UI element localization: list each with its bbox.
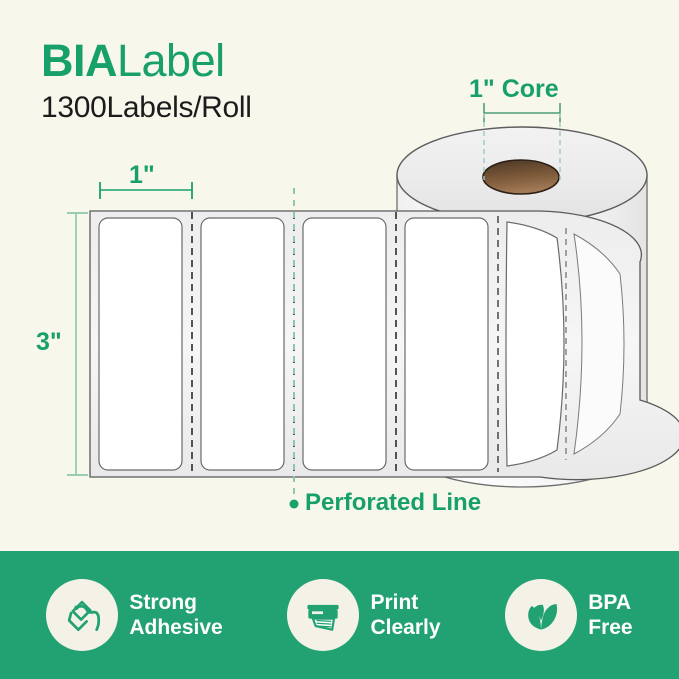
- dimension-width-label: 1": [129, 161, 155, 190]
- feature-print-clearly: Print Clearly: [287, 579, 440, 651]
- leaves-icon: [505, 579, 577, 651]
- label-strip: [90, 211, 679, 480]
- label-item: [405, 218, 488, 470]
- feature-label: Print Clearly: [370, 590, 440, 640]
- label-roll-illustration: [0, 0, 679, 560]
- feature-bpa-free: BPA Free: [505, 579, 632, 651]
- dimension-core-label: 1" Core: [469, 75, 559, 104]
- dimension-height: [67, 213, 88, 475]
- perforated-line-label: Perforated Line: [305, 489, 481, 517]
- printer-icon: [287, 579, 359, 651]
- printer-glyph: [301, 593, 345, 637]
- label-item: [99, 218, 182, 470]
- leaves-glyph: [519, 593, 563, 637]
- feature-label: BPA Free: [588, 590, 632, 640]
- feature-bar: Strong Adhesive Print Clearly: [0, 551, 679, 679]
- perforated-marker-dot: [290, 500, 299, 509]
- dimension-height-label: 3": [36, 328, 62, 357]
- feature-label: Strong Adhesive: [129, 590, 222, 640]
- product-infographic: BIALabel 1300Labels/Roll: [0, 0, 679, 679]
- label-item: [201, 218, 284, 470]
- glue-bottle-icon: [46, 579, 118, 651]
- label-item: [303, 218, 386, 470]
- roll-core-hole: [483, 160, 559, 194]
- feature-strong-adhesive: Strong Adhesive: [46, 579, 222, 651]
- glue-bottle-glyph: [60, 593, 104, 637]
- label-item: [506, 222, 564, 466]
